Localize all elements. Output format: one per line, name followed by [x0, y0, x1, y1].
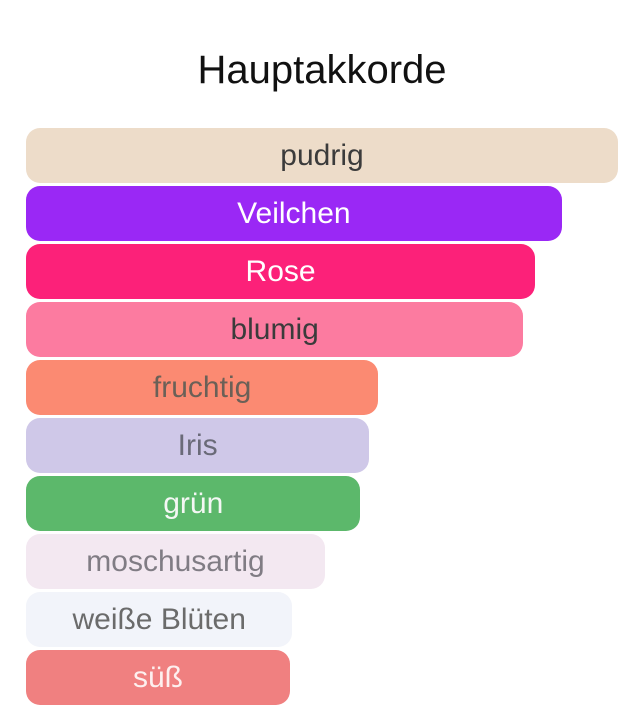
bar-row: pudrig: [26, 128, 618, 186]
bar-weiße-blüten[interactable]: weiße Blüten: [26, 592, 292, 647]
bar-row: süß: [26, 650, 618, 708]
bar-veilchen[interactable]: Veilchen: [26, 186, 562, 241]
bar-label: moschusartig: [80, 545, 270, 579]
bar-label: blumig: [224, 313, 324, 347]
bar-row: weiße Blüten: [26, 592, 618, 650]
bar-row: Rose: [26, 244, 618, 302]
bar-label: fruchtig: [147, 371, 257, 405]
bar-label: Veilchen: [231, 197, 356, 231]
bar-fruchtig[interactable]: fruchtig: [26, 360, 378, 415]
bar-label: pudrig: [274, 139, 369, 173]
bar-label: Rose: [240, 255, 322, 289]
bar-label: süß: [127, 661, 189, 695]
bar-grün[interactable]: grün: [26, 476, 360, 531]
bar-iris[interactable]: Iris: [26, 418, 369, 473]
bar-row: moschusartig: [26, 534, 618, 592]
bar-süß[interactable]: süß: [26, 650, 290, 705]
bar-row: blumig: [26, 302, 618, 360]
bar-chart-bars-area: pudrigVeilchenRoseblumigfruchtigIrisgrün…: [26, 128, 618, 698]
bar-label: weiße Blüten: [66, 603, 251, 637]
bar-rose[interactable]: Rose: [26, 244, 535, 299]
bar-row: fruchtig: [26, 360, 618, 418]
bar-row: Iris: [26, 418, 618, 476]
bar-label: Iris: [172, 429, 224, 463]
main-accords-chart-panel: Hauptakkorde pudrigVeilchenRoseblumigfru…: [0, 0, 644, 712]
bar-pudrig[interactable]: pudrig: [26, 128, 618, 183]
bar-row: Veilchen: [26, 186, 618, 244]
bar-blumig[interactable]: blumig: [26, 302, 523, 357]
bar-moschusartig[interactable]: moschusartig: [26, 534, 325, 589]
bar-row: grün: [26, 476, 618, 534]
chart-title: Hauptakkorde: [0, 46, 644, 94]
bar-label: grün: [157, 487, 229, 521]
